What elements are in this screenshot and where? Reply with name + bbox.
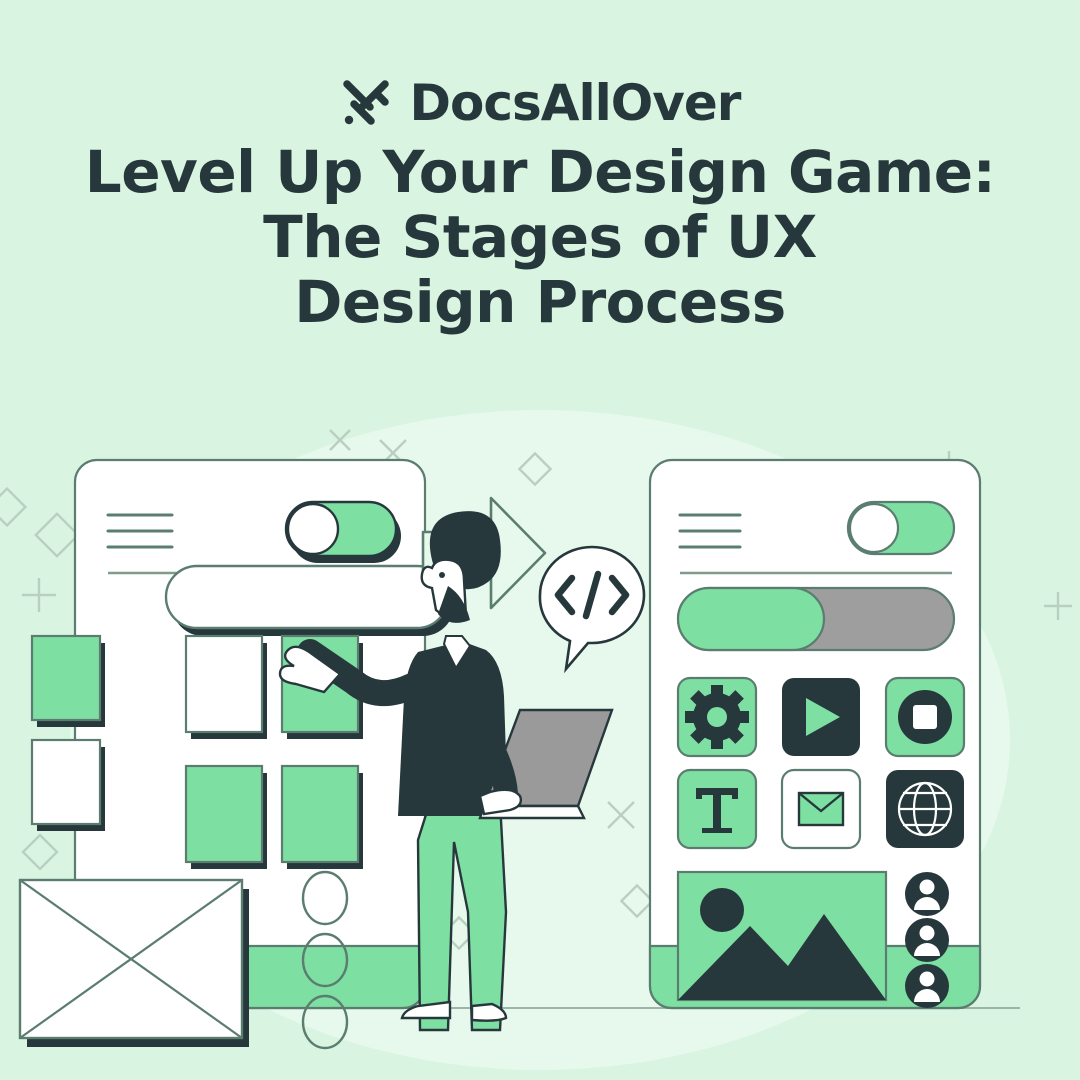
globe-icon[interactable]	[886, 770, 964, 848]
brand-lockup: DocsAllOver	[0, 72, 1080, 134]
side-card-1[interactable]	[32, 636, 105, 727]
progress-slider[interactable]	[678, 588, 954, 650]
toggle-switch[interactable]	[286, 502, 401, 563]
headline-line-3: Design Process	[40, 270, 1040, 335]
search-field[interactable]	[166, 566, 448, 628]
docsallover-slash-mark-icon	[340, 77, 392, 129]
eye	[439, 572, 445, 578]
play-icon[interactable]	[782, 678, 860, 756]
image-placeholder-x-box[interactable]	[20, 880, 249, 1047]
avatar[interactable]	[905, 872, 949, 916]
avatar[interactable]	[905, 964, 949, 1008]
headline-line-2: The Stages of UX	[40, 205, 1040, 270]
grid-card-4[interactable]	[282, 766, 363, 869]
poster-canvas: DocsAllOver Level Up Your Design Game: T…	[0, 0, 1080, 1080]
headline-line-1: Level Up Your Design Game:	[40, 140, 1040, 205]
grid-card-3[interactable]	[186, 766, 267, 869]
wireframe-phone-mockup[interactable]	[20, 460, 454, 1048]
image-preview-card[interactable]	[678, 872, 886, 1000]
toggle-knob[interactable]	[288, 504, 338, 554]
grid-card-1[interactable]	[186, 636, 267, 739]
avatar-list	[905, 872, 949, 1008]
gear-icon[interactable]	[678, 678, 756, 756]
brand-name: DocsAllOver	[410, 78, 741, 128]
search-pill-placeholder[interactable]	[166, 566, 454, 636]
plus-icon	[1044, 592, 1072, 620]
plus-icon	[22, 578, 56, 612]
text-tool-icon[interactable]	[678, 770, 756, 848]
side-card-2[interactable]	[32, 740, 105, 831]
mail-icon[interactable]	[782, 770, 860, 848]
ui-design-phone-mockup[interactable]	[650, 460, 980, 1008]
diamond-icon	[0, 489, 25, 526]
diamond-icon	[23, 835, 57, 869]
diamond-icon	[36, 514, 78, 556]
toggle-switch[interactable]	[848, 502, 954, 554]
stop-in-circle-icon[interactable]	[886, 678, 964, 756]
ux-design-process-illustration	[0, 410, 1080, 1080]
avatar[interactable]	[905, 918, 949, 962]
page-title: Level Up Your Design Game: The Stages of…	[40, 140, 1040, 335]
sun-shape	[700, 888, 744, 932]
toggle-knob[interactable]	[850, 504, 898, 552]
slider-fill	[678, 588, 824, 650]
